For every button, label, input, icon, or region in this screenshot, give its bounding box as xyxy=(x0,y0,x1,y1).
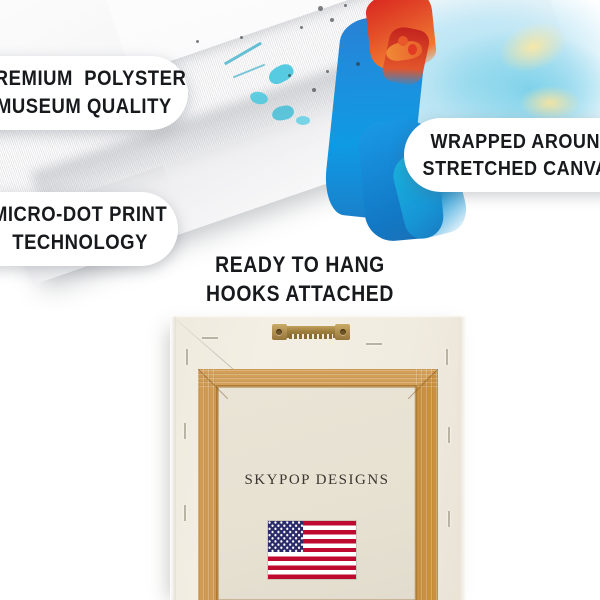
badge-premium-polyster: PREMIUM POLYSTER MUSEUM QUALITY xyxy=(0,56,188,130)
hanger-plate-left xyxy=(272,324,287,340)
hanger-teeth xyxy=(289,334,333,339)
artwork-red-dot xyxy=(408,44,417,55)
caption-ready-to-hang: READY TO HANG HOOKS ATTACHED xyxy=(0,250,600,309)
caption-line-2: HOOKS ATTACHED xyxy=(36,279,564,308)
staple-mark xyxy=(366,343,382,345)
staple-mark xyxy=(202,337,218,339)
staple-mark xyxy=(448,427,450,443)
brand-name: SKYPOP DESIGNS xyxy=(218,472,416,489)
staple-mark xyxy=(184,423,186,439)
caption-line-1: READY TO HANG xyxy=(36,250,564,279)
artwork-speck xyxy=(318,6,323,11)
staple-mark xyxy=(186,349,188,365)
hanger-plate-right xyxy=(335,324,350,340)
artwork-cyan-fleck-4 xyxy=(296,116,310,125)
artwork-speck xyxy=(196,40,199,43)
stretcher-bevel-right xyxy=(414,385,417,600)
artwork-speck xyxy=(356,62,360,66)
flag-canton xyxy=(268,521,303,552)
staple-mark xyxy=(446,349,448,365)
artwork-speck xyxy=(330,18,334,22)
artwork-cyan-fleck-2 xyxy=(249,90,269,106)
stretcher-bevel-left xyxy=(216,385,219,600)
badge-wrapped-around-stretched-canvas: WRAPPED AROUND STRETCHED CANVAS xyxy=(404,118,600,192)
staple-mark xyxy=(448,511,450,527)
stretcher-miter-joint-left xyxy=(198,369,228,399)
badge-premium-line-1: PREMIUM POLYSTER xyxy=(0,65,186,93)
badge-micro-line-1: MICRO-DOT PRINT xyxy=(0,201,168,229)
canvas-back-right-edge xyxy=(459,315,466,600)
us-flag-icon xyxy=(268,521,356,579)
artwork-teal-line-2 xyxy=(233,64,265,79)
canvas-back-left-edge xyxy=(170,315,176,600)
canvas-back-photo: SKYPOP DESIGNS xyxy=(170,315,466,600)
artwork-yellow-wash-2 xyxy=(520,86,580,120)
artwork-orange-dot xyxy=(398,36,408,46)
artwork-cyan-fleck-3 xyxy=(271,104,295,122)
stretcher-miter-joint-right xyxy=(408,369,438,399)
artwork-speck xyxy=(326,70,329,73)
badge-premium-line-2: MUSEUM QUALITY xyxy=(0,93,172,121)
canvas-back-top-highlight xyxy=(170,315,466,318)
badge-wrapped-line-1: WRAPPED AROUND xyxy=(430,128,600,155)
artwork-speck xyxy=(344,4,347,7)
artwork-speck xyxy=(300,26,303,29)
badge-wrapped-line-2: STRETCHED CANVAS xyxy=(423,155,600,182)
artwork-speck xyxy=(240,36,243,39)
artwork-speck xyxy=(288,74,291,77)
flag-stars xyxy=(268,521,303,552)
artwork-speck xyxy=(312,88,316,92)
hanger-screw-hole-right xyxy=(340,329,346,335)
sawtooth-hanger-icon xyxy=(272,324,350,341)
artwork-teal-line-1 xyxy=(224,42,262,66)
stretcher-bevel-top xyxy=(218,385,416,388)
product-infographic: PREMIUM POLYSTER MUSEUM QUALITY MICRO-DO… xyxy=(0,0,600,600)
artwork-cyan-fleck-1 xyxy=(266,61,296,87)
hanger-screw-hole-left xyxy=(276,329,282,335)
staple-mark xyxy=(184,505,186,521)
